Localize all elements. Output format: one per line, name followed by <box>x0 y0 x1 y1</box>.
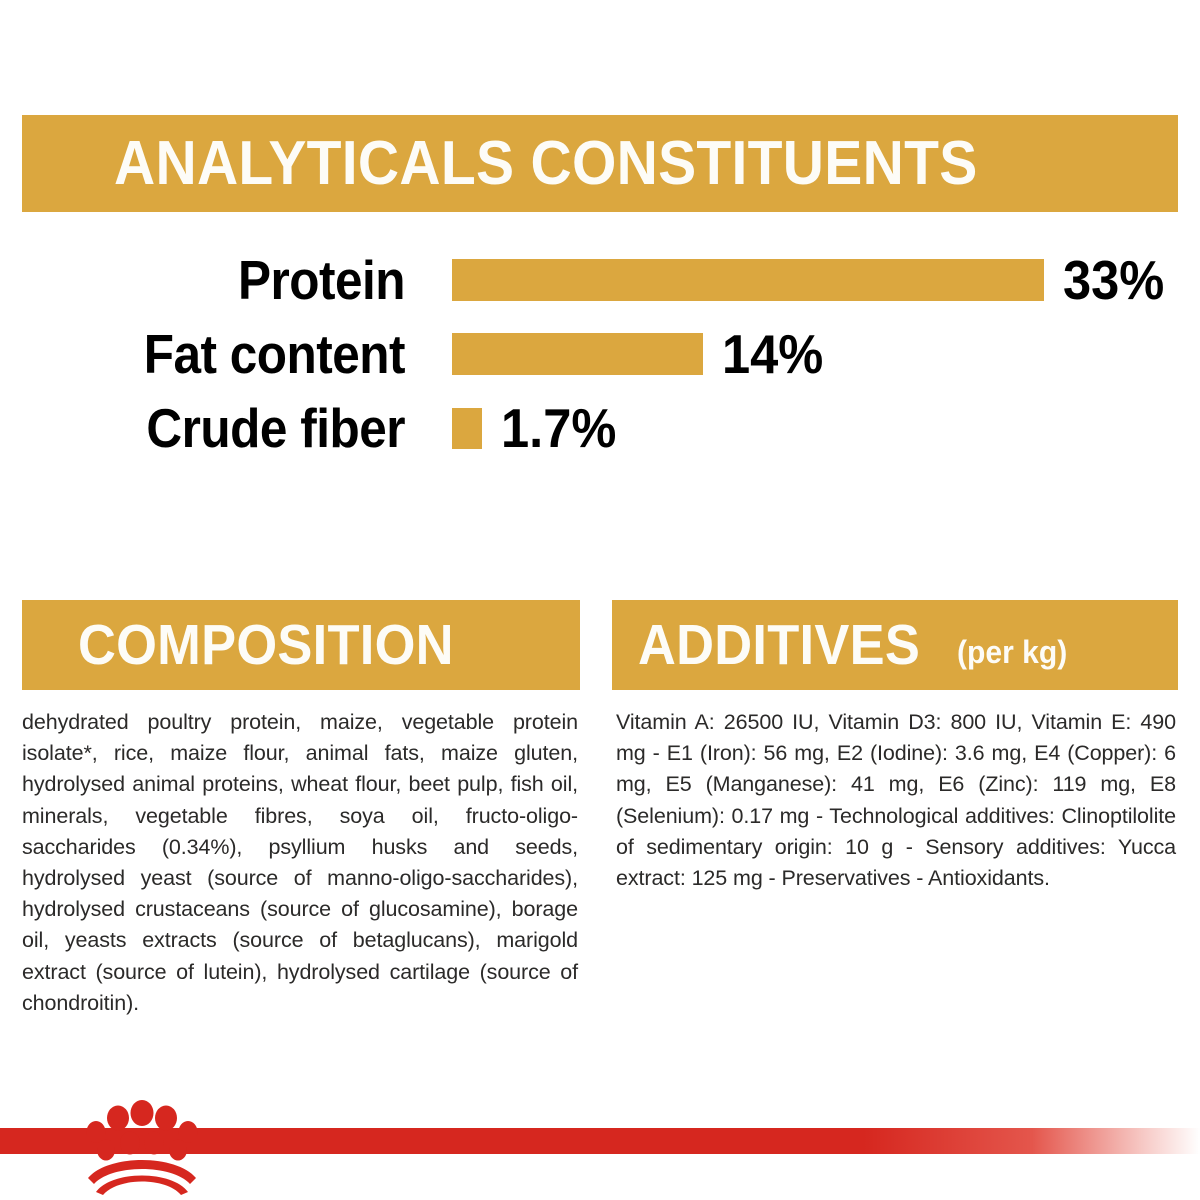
additives-per-kg-subtitle: (per kg) <box>957 636 1067 668</box>
chart-row-crude-fiber: Crude fiber 1.7% <box>0 396 1200 460</box>
chart-row-fat-content: Fat content 14% <box>0 322 1200 386</box>
bar-fill-protein <box>452 259 1044 301</box>
composition-text: dehydrated poultry protein, maize, veget… <box>22 707 578 1019</box>
bar-value-fat-content: 14% <box>722 327 823 382</box>
bar-label-protein: Protein <box>41 253 406 308</box>
analyticals-constituents-banner: ANALYTICALS CONSTITUENTS <box>22 115 1178 212</box>
analytical-constituents-bar-chart: Protein 33% Fat content 14% Crude fiber … <box>0 236 1200 466</box>
analyticals-constituents-title: ANALYTICALS CONSTITUENTS <box>114 133 978 195</box>
bar-track-fat-content: 14% <box>452 322 832 386</box>
bar-track-protein: 33% <box>452 248 1173 312</box>
bar-label-fat-content: Fat content <box>41 327 406 382</box>
additives-text: Vitamin A: 26500 IU, Vitamin D3: 800 IU,… <box>616 707 1176 894</box>
composition-title: COMPOSITION <box>78 617 454 674</box>
additives-banner: ADDITIVES (per kg) <box>612 600 1178 690</box>
bar-value-crude-fiber: 1.7% <box>501 401 616 456</box>
bar-value-protein: 33% <box>1063 253 1164 308</box>
royal-canin-crown-icon <box>78 1092 206 1200</box>
chart-row-protein: Protein 33% <box>0 248 1200 312</box>
bar-fill-fat-content <box>452 333 703 375</box>
additives-title: ADDITIVES <box>638 617 920 674</box>
bar-track-crude-fiber: 1.7% <box>452 396 627 460</box>
bar-fill-crude-fiber <box>452 408 482 449</box>
bar-label-crude-fiber: Crude fiber <box>41 401 406 456</box>
brand-footer <box>0 1128 1200 1200</box>
composition-banner: COMPOSITION <box>22 600 580 690</box>
